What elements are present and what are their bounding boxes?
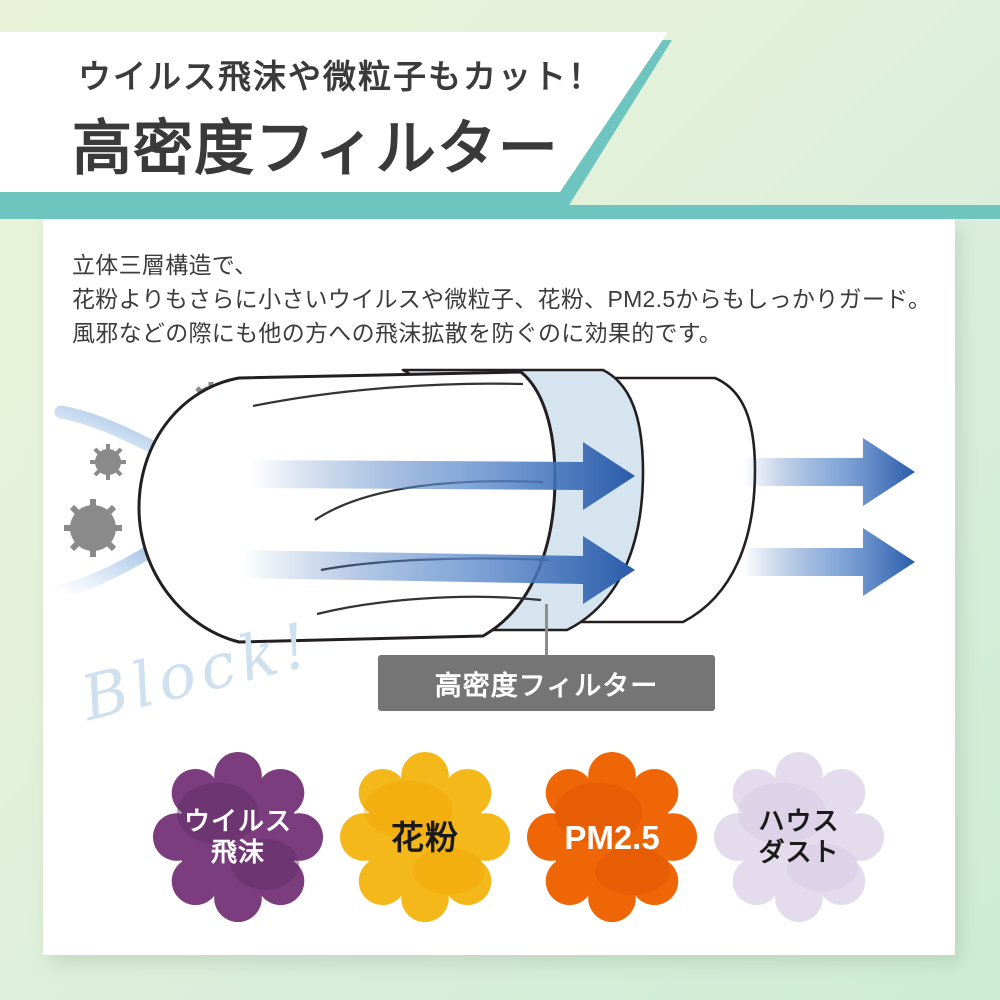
badge-label-line1: ハウス	[758, 806, 839, 837]
body-line-1: 立体三層構造で、	[72, 248, 931, 282]
header-kicker: ウイルス飛沫や微粒子もカット！	[78, 50, 603, 98]
badge-house-dust: ハウス ダスト	[714, 752, 884, 922]
outbound-arrows	[743, 438, 915, 596]
teal-underline-bar	[0, 205, 1000, 219]
badge-label: ハウス ダスト	[714, 752, 884, 922]
filter-callout: 高密度フィルター	[378, 655, 715, 711]
badge-label-line2: 飛沫	[211, 837, 265, 868]
callout-leader-line	[545, 604, 548, 658]
filter-callout-label: 高密度フィルター	[435, 664, 658, 703]
badge-row: ウイルス 飛沫 花粉	[43, 752, 955, 924]
mask-layer-front	[139, 372, 555, 642]
badge-label-line1: ウイルス	[184, 806, 292, 837]
body-copy: 立体三層構造で、 花粉よりもさらに小さいウイルスや微粒子、花粉、PM2.5からも…	[72, 248, 931, 350]
body-line-2: 花粉よりもさらに小さいウイルスや微粒子、花粉、PM2.5からもしっかりガード。	[72, 282, 931, 316]
badge-label: PM2.5	[527, 752, 697, 922]
badge-virus-droplet: ウイルス 飛沫	[153, 752, 323, 922]
badge-pm25: PM2.5	[527, 752, 697, 922]
badge-label-line1: PM2.5	[564, 822, 659, 853]
badge-label-line2: ダスト	[758, 837, 839, 868]
body-line-3: 風邪などの際にも他の方への飛沫拡散を防ぐのに効果的です。	[72, 316, 931, 350]
page-title: 高密度フィルター	[72, 100, 559, 187]
infographic-root: ウイルス飛沫や微粒子もカット！ 高密度フィルター 立体三層構造で、 花粉よりもさ…	[0, 0, 1000, 1000]
badge-label-line1: 花粉	[391, 822, 459, 853]
badge-label: ウイルス 飛沫	[153, 752, 323, 922]
mask-diagram	[43, 360, 955, 660]
badge-label: 花粉	[340, 752, 510, 922]
badge-pollen: 花粉	[340, 752, 510, 922]
